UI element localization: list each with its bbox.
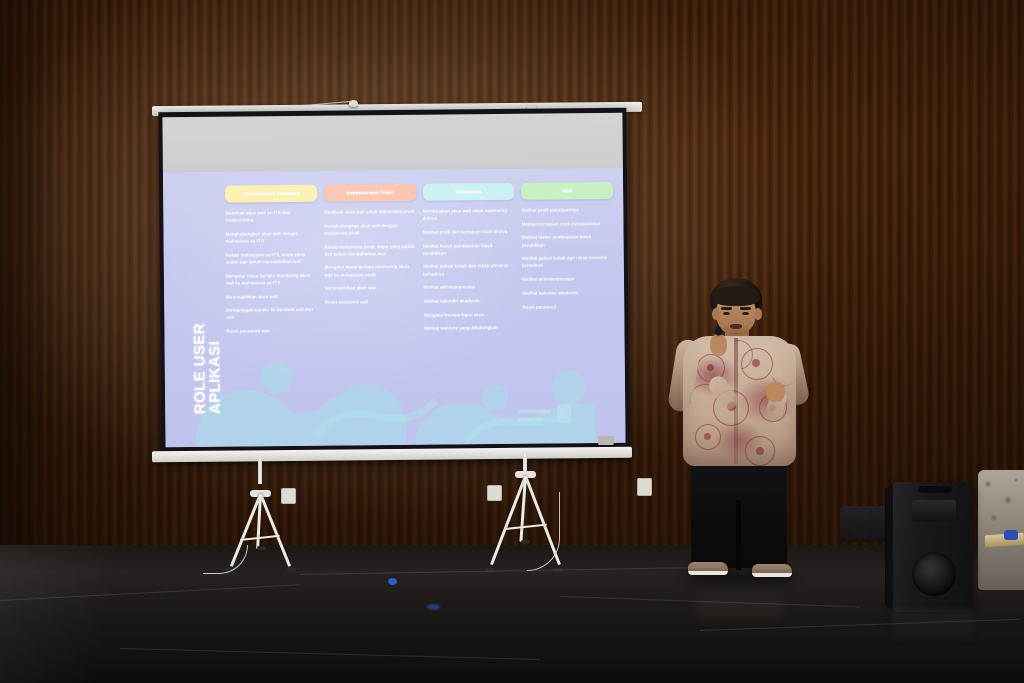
- presenter-leg-gap: [736, 500, 741, 570]
- wall-socket-right: [637, 478, 652, 496]
- speaker-reflection: [893, 610, 973, 644]
- presenter: [660, 278, 820, 596]
- role-columns: Administrator Akademik Membuat akun wali…: [225, 182, 615, 441]
- presenter-eye-left: [723, 312, 730, 315]
- list-item: Mengatur masa berlaku monitoring akun wa…: [226, 271, 318, 286]
- list-item: Melihat kemajuan studi putra/putrinya: [522, 220, 614, 228]
- presenter-brow-left: [721, 307, 732, 310]
- list-item: Melihat aktivitas/prestasi: [522, 275, 614, 283]
- list-item: Membuat akun wali se-ITS dan instansi/mi…: [225, 209, 317, 224]
- role-column-wali: Wali Melihat profil putra/putrinya Melih…: [521, 182, 615, 438]
- list-item: Mengatur/memperbarui akun: [424, 311, 516, 319]
- presenter-floor-reflection: [696, 578, 784, 618]
- blue-item-on-table: [1004, 530, 1018, 540]
- list-item: Melihat profil dan kemajuan studi diriny…: [423, 228, 515, 236]
- presenter-hair-fringe: [712, 286, 760, 306]
- presenter-shoe-right-sole: [752, 573, 792, 577]
- presenter-brow-right: [740, 307, 751, 310]
- list-item: Membuatkan akun wali untuk monitoring di…: [423, 207, 515, 222]
- tripod-left-foot-3: [257, 546, 266, 550]
- presenter-ear-right: [754, 308, 762, 320]
- list-item: Melihat profil putra/putrinya: [522, 206, 614, 214]
- column-header-pill-1: Administrator Akademik: [225, 185, 317, 203]
- role-column-administrator-prodi: Administrator Prodi Membuat akun wali un…: [324, 184, 418, 440]
- role-column-administrator-akademik: Administrator Akademik Membuat akun wali…: [225, 185, 319, 441]
- speaker-handle: [918, 486, 952, 493]
- list-item: Membuat akun wali untuk mahasiswa prodi: [324, 208, 416, 216]
- tripod-left-foot-2: [286, 568, 296, 572]
- column-items-3: Membuatkan akun wali untuk monitoring di…: [423, 207, 516, 332]
- list-item: Menonaktifkan akun wali: [226, 292, 318, 300]
- presentation-photo: ROLE USER APLIKASI Administrator Akademi…: [0, 0, 1024, 683]
- list-item: Menghubungkan akun wali dengan mahasiswa…: [225, 230, 317, 245]
- presenter-ear-left: [712, 308, 720, 320]
- speaker-woofer: [912, 552, 956, 596]
- slide-content: ROLE USER APLIKASI Administrator Akademi…: [163, 168, 626, 447]
- wall-left-shadow: [0, 0, 60, 560]
- wall-socket-mid: [487, 485, 502, 501]
- column-items-4: Melihat profil putra/putrinya Melihat ke…: [522, 206, 615, 311]
- list-item: Melihat kalender akademik: [522, 289, 614, 297]
- list-item: Melihat kalender akademik: [424, 297, 516, 305]
- column-header-pill-2: Administrator Prodi: [324, 184, 416, 202]
- list-item: Menonaktifkan akun wali: [325, 284, 417, 292]
- list-item: Reset password: [522, 302, 614, 310]
- list-item: Melihat jadwal kuliah dan rekap presensi…: [522, 254, 614, 269]
- list-item: Mengunggah banner ke beranda wali dan or…: [226, 306, 318, 321]
- screen-surface: ROLE USER APLIKASI Administrator Akademi…: [162, 113, 625, 447]
- list-item: Mengatur masa berlaku monitoring akun wa…: [325, 263, 417, 278]
- screen-pull-knob[interactable]: [598, 436, 614, 445]
- list-item: Melihat wali/ortu yang dihubungkan: [424, 324, 516, 332]
- role-column-mahasiswa: Mahasiswa Membuatkan akun wali untuk mon…: [423, 183, 517, 439]
- list-item: Reset password wali: [325, 298, 417, 306]
- speaker-horn: [912, 500, 956, 522]
- column-header-pill-4: Wali: [521, 182, 613, 200]
- list-item: Melihat aktivitas/prestasi: [424, 283, 516, 291]
- blue-object-reflection: [427, 604, 440, 610]
- presenter-hand-left: [710, 334, 727, 356]
- column-items-1: Membuat akun wali se-ITS dan instansi/mi…: [225, 209, 318, 335]
- presenter-hand-right: [766, 382, 785, 402]
- list-item: Reset password wali: [226, 327, 318, 335]
- list-item: Menghubungkan akun wali dengan mahasiswa…: [324, 221, 416, 236]
- column-items-2: Membuat akun wali untuk mahasiswa prodi …: [324, 208, 417, 306]
- presenter-shoe-left-sole: [688, 571, 728, 575]
- list-item: Melihat histori pembayaran biaya pendidi…: [423, 241, 515, 256]
- marble-floor: [0, 545, 1024, 683]
- column-header-pill-3: Mahasiswa: [423, 183, 515, 201]
- presenter-mouth: [730, 324, 742, 329]
- presenter-eye-right: [742, 312, 749, 315]
- blue-object-floor: [388, 578, 397, 585]
- list-item: Melihat histori pembayaran biaya pendidi…: [522, 233, 614, 248]
- wall-socket-left: [281, 488, 296, 504]
- list-item: Melihat jadwal kuliah dan rekap presensi…: [423, 262, 515, 277]
- list-item: Rekap mahasiswa se-ITS, siapa yang sudah…: [226, 250, 318, 265]
- chair-pattern: [978, 470, 1024, 536]
- slide-side-title: ROLE USER APLIKASI: [192, 264, 224, 414]
- tripod-left-post: [258, 456, 262, 484]
- projector-screen: ROLE USER APLIKASI Administrator Akademi…: [158, 108, 629, 457]
- list-item: Rekap mahasiswa prodi, siapa yang sudah …: [324, 242, 416, 257]
